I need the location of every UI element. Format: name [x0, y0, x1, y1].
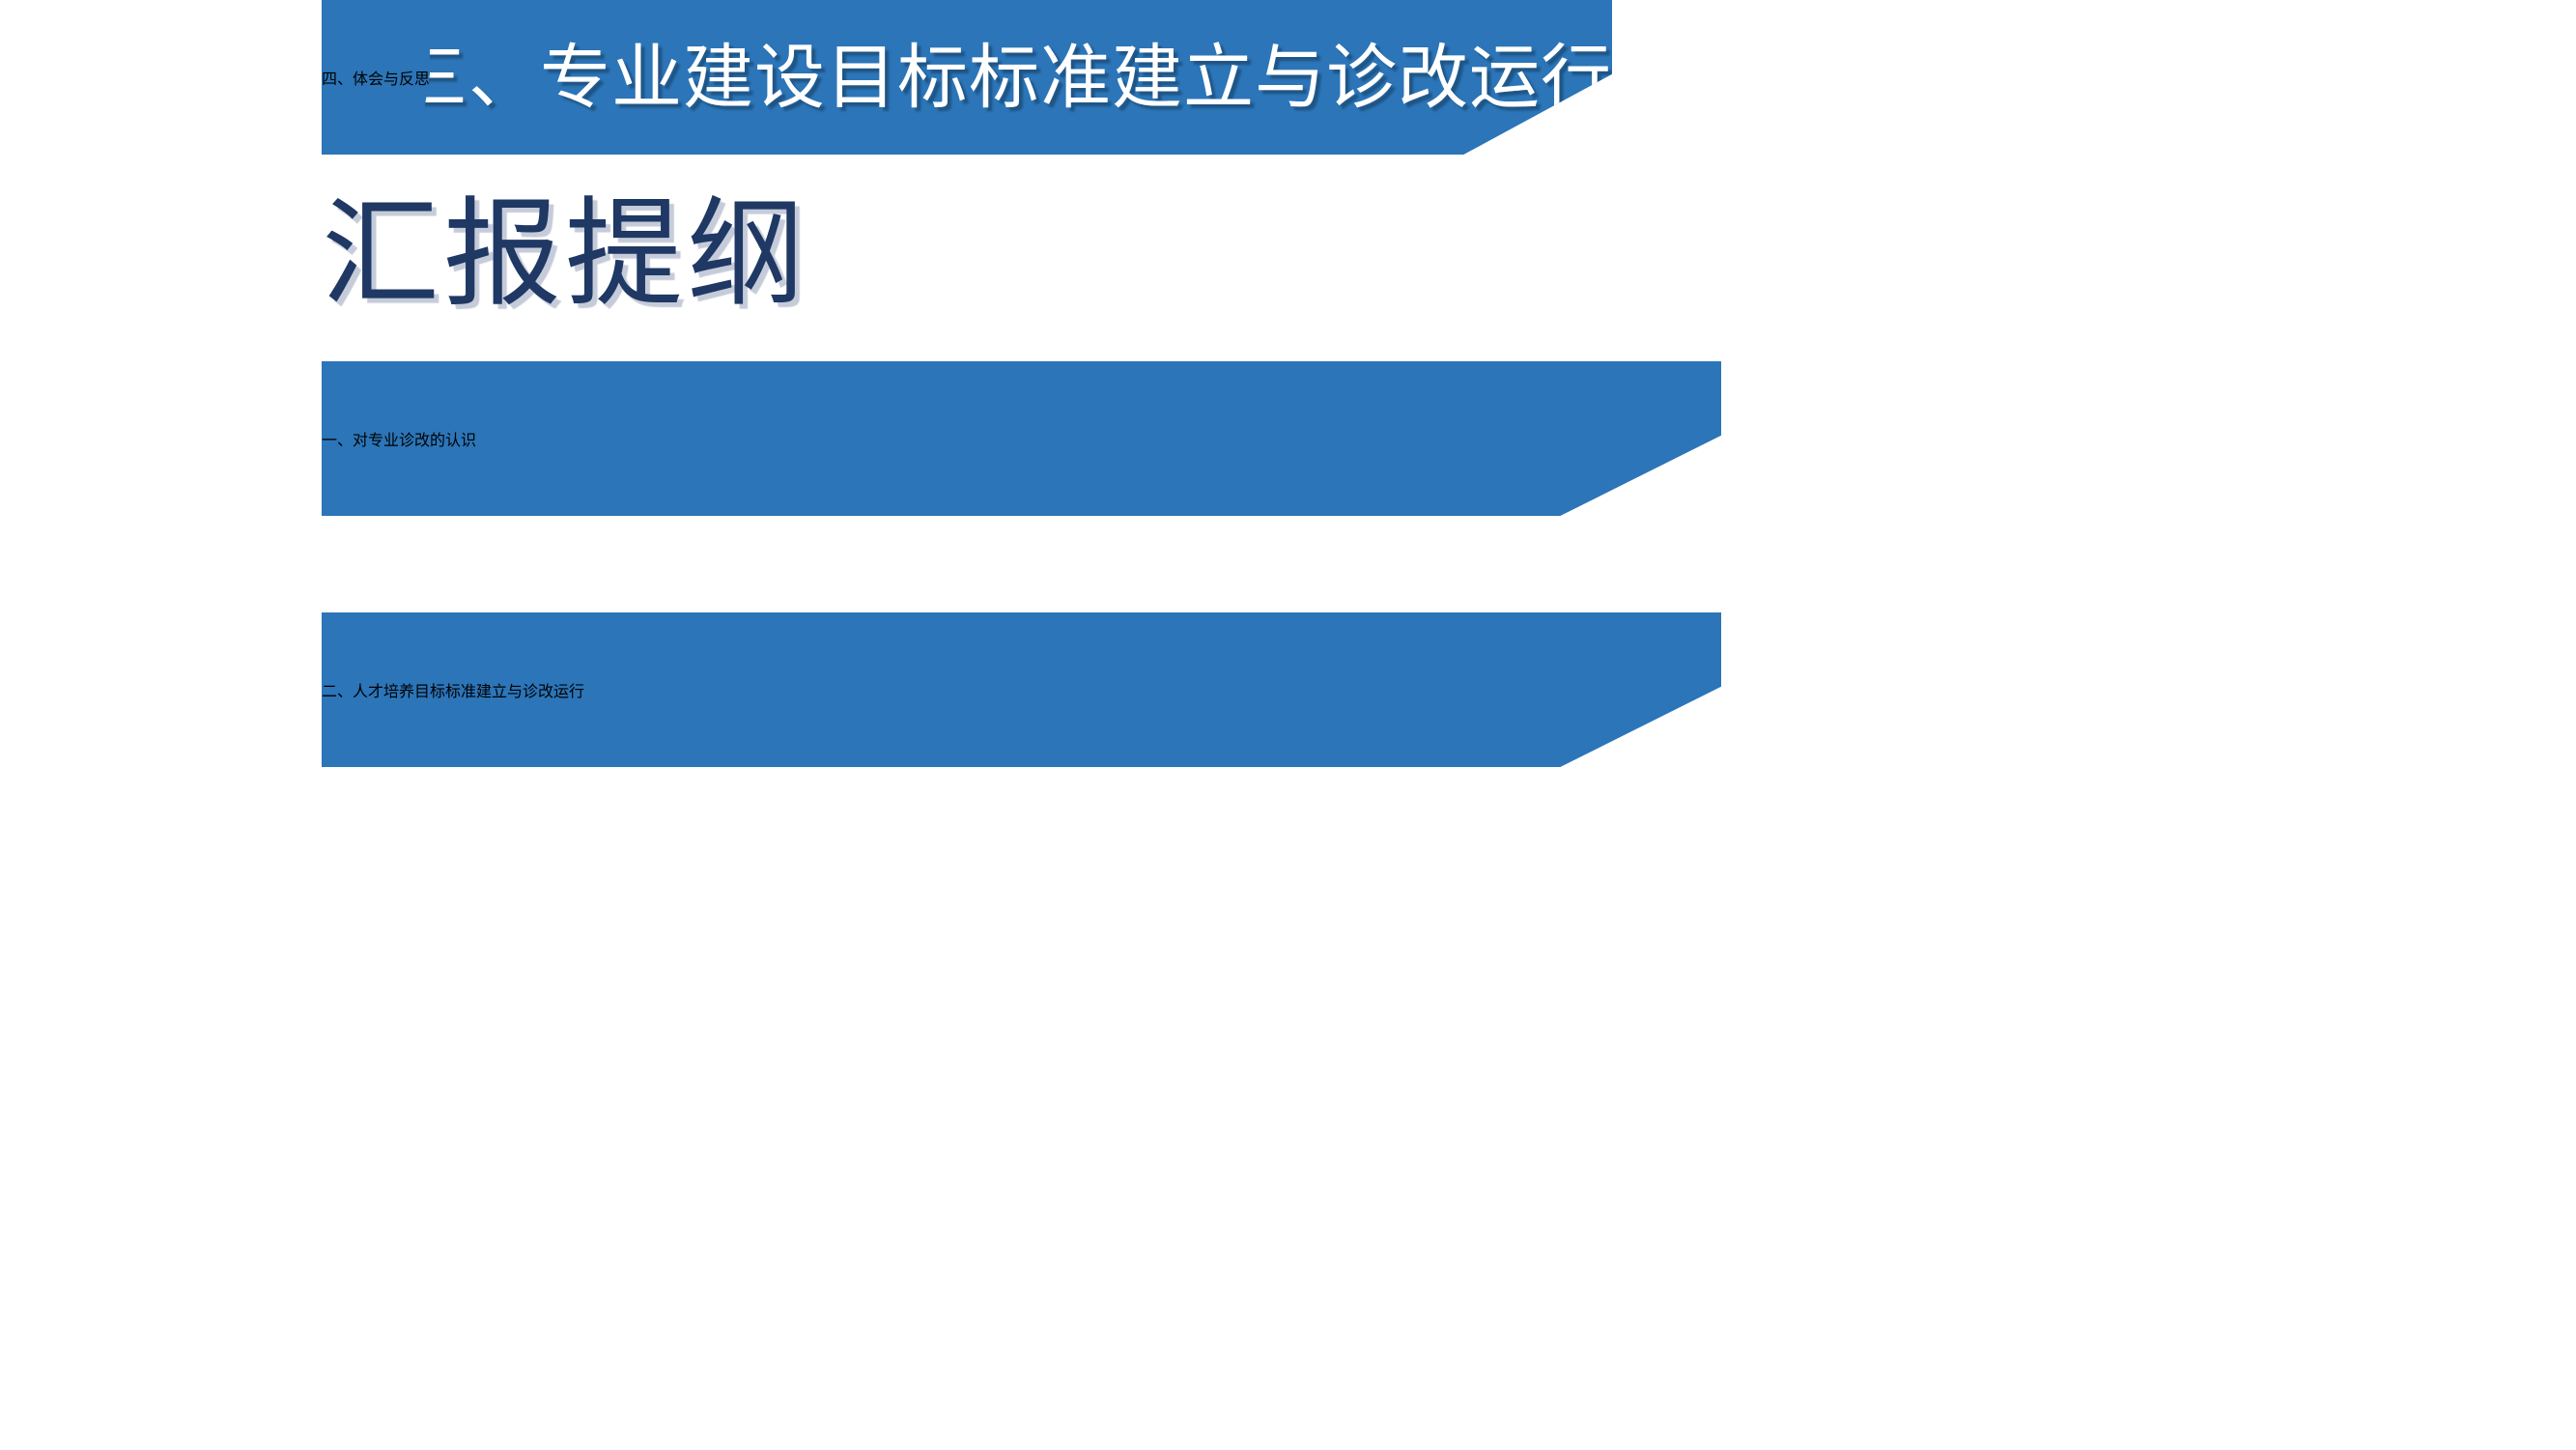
agenda-item-1[interactable]: 一、对专业诊改的认识 — [322, 361, 1721, 516]
agenda-item-4[interactable]: 四、体会与反思 — [322, 0, 430, 155]
agenda-item-4-label: 四、体会与反思 — [322, 66, 430, 89]
agenda-item-3[interactable]: 三、专业建设目标标准建立与诊改运行 — [322, 0, 1612, 155]
presentation-slide: 汇报提纲 一、对专业诊改的认识 二、人才培养目标标准建立与诊改运行 三、专业建设… — [0, 0, 2576, 1450]
agenda-item-1-label: 一、对专业诊改的认识 — [322, 427, 476, 450]
agenda-item-3-label: 三、专业建设目标标准建立与诊改运行 — [322, 43, 1612, 113]
agenda-item-2[interactable]: 二、人才培养目标标准建立与诊改运行 — [322, 612, 1721, 767]
agenda-item-2-label: 二、人才培养目标标准建立与诊改运行 — [322, 678, 584, 701]
agenda-list: 一、对专业诊改的认识 二、人才培养目标标准建立与诊改运行 三、专业建设目标标准建… — [0, 0, 2576, 1450]
